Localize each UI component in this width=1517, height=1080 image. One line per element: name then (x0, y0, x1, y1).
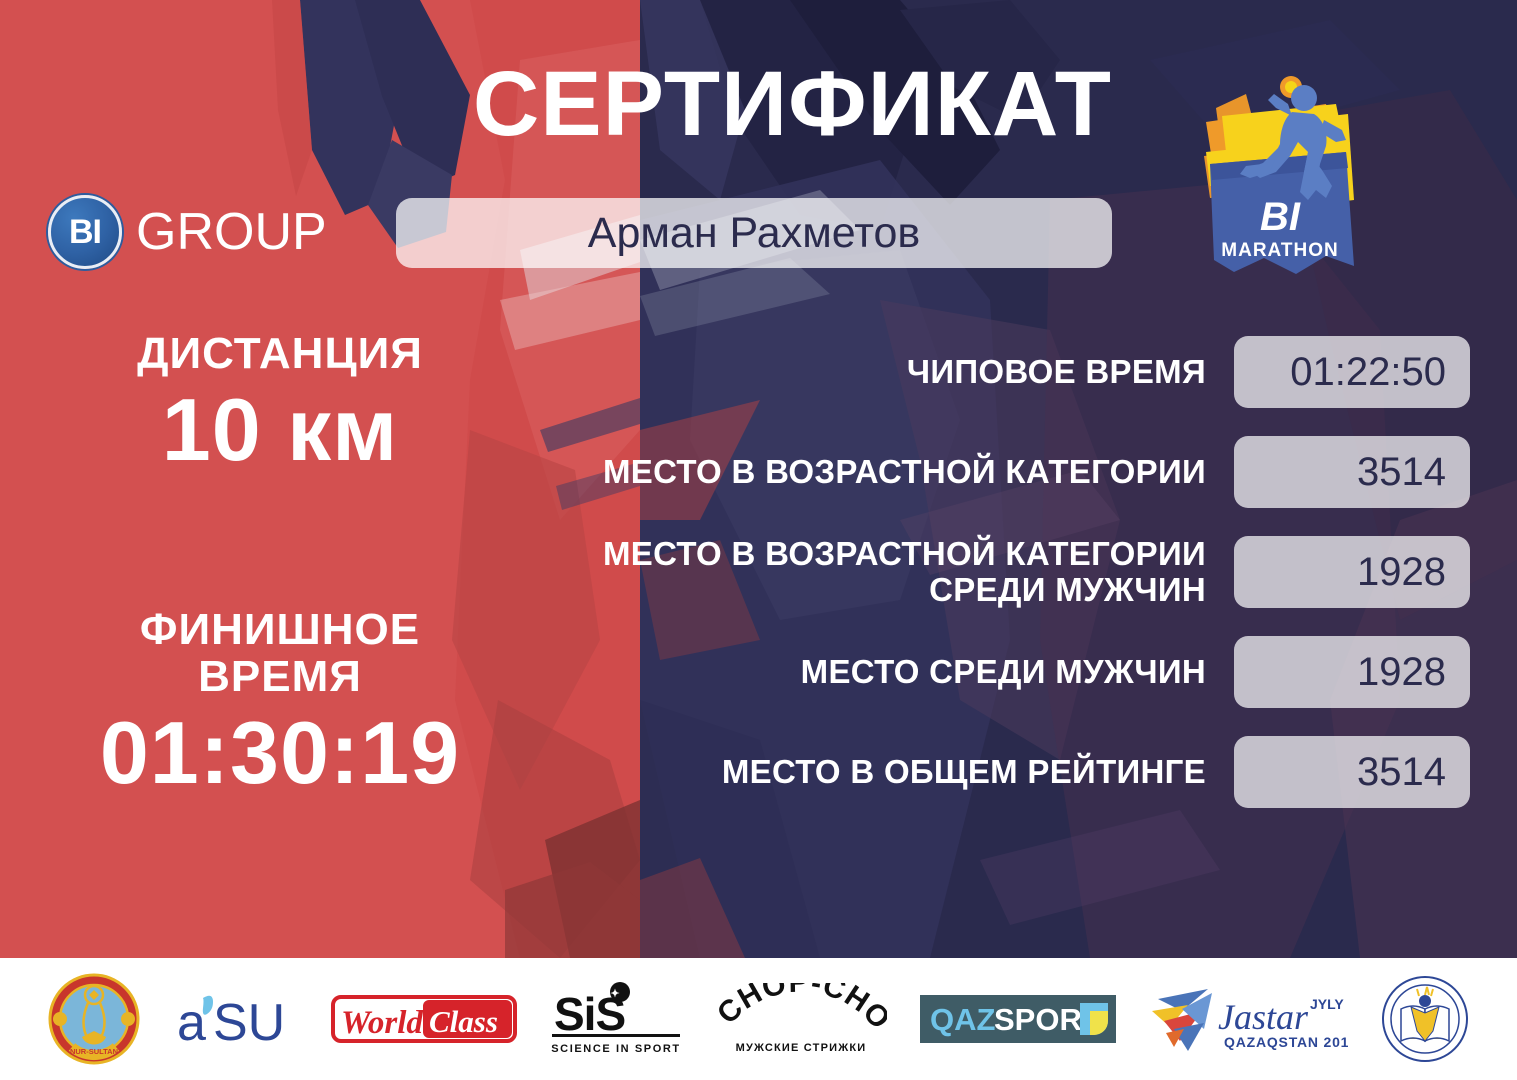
left-stats-column: ДИСТАНЦИЯ 10 км ФИНИШНОЕ ВРЕМЯ 01:30:19 (0, 330, 560, 799)
qazsport-logo-icon: QAZ SPORT (920, 995, 1116, 1043)
page-title: СЕРТИФИКАТ (0, 58, 1160, 150)
jastar-sublabel: QAZAQSTAN 2019 (1224, 1034, 1348, 1050)
bi-marathon-logo-svg: BI MARATHON (1176, 60, 1376, 300)
participant-name-field: Арман Рахметов (396, 198, 1112, 268)
sponsor-nur-sultan: NUR-SULTAN (48, 971, 140, 1067)
bi-badge-icon: BI (48, 195, 122, 269)
sis-label: SiS (554, 988, 625, 1040)
ministry-seal-icon (1381, 975, 1469, 1063)
bi-group-label: GROUP (136, 202, 327, 262)
result-label: МЕСТО В ОБЩЕМ РЕЙТИНГЕ (520, 754, 1234, 790)
result-label: ЧИПОВОЕ ВРЕМЯ (520, 354, 1234, 390)
distance-value: 10 км (0, 384, 560, 476)
bi-marathon-line1: BI (1260, 195, 1301, 239)
sponsor-world-class: World Class (331, 971, 517, 1067)
table-row: ЧИПОВОЕ ВРЕМЯ 01:22:50 (520, 336, 1470, 408)
nur-sultan-emblem-icon: NUR-SULTAN (48, 973, 140, 1065)
asu-label-2: SU (213, 994, 285, 1050)
result-label: МЕСТО СРЕДИ МУЖЧИН (520, 654, 1234, 690)
world-class-logo-icon: World Class (331, 991, 517, 1047)
chop-chop-label: CHOP-CHOP (715, 983, 887, 1036)
jastar-sup-label: JYLY (1310, 996, 1344, 1012)
nur-sultan-label: NUR-SULTAN (70, 1047, 118, 1056)
finish-time-label: ФИНИШНОЕ ВРЕМЯ (0, 606, 560, 701)
asu-label: a (177, 994, 206, 1050)
bi-group-logo: BI GROUP (48, 195, 327, 269)
table-row: МЕСТО В ВОЗРАСТНОЙ КАТЕГОРИИ СРЕДИ МУЖЧИ… (520, 536, 1470, 608)
qazsport-label: QAZ (930, 1002, 996, 1037)
sponsor-chop-chop: CHOP-CHOP МУЖСКИЕ СТРИЖКИ (715, 971, 887, 1067)
table-row: МЕСТО СРЕДИ МУЖЧИН 1928 (520, 636, 1470, 708)
sponsor-asu: a SU (173, 971, 299, 1067)
result-label: МЕСТО В ВОЗРАСТНОЙ КАТЕГОРИИ (520, 454, 1234, 490)
chop-chop-sublabel: МУЖСКИЕ СТРИЖКИ (735, 1042, 866, 1054)
sponsor-qazsport: QAZ SPORT (920, 971, 1116, 1067)
chop-chop-logo-icon: CHOP-CHOP МУЖСКИЕ СТРИЖКИ (715, 983, 887, 1055)
sponsor-ministry-seal (1381, 971, 1469, 1067)
bi-marathon-line2: MARATHON (1221, 240, 1338, 261)
svg-text:CHOP-CHOP: CHOP-CHOP (715, 983, 887, 1036)
result-label: МЕСТО В ВОЗРАСТНОЙ КАТЕГОРИИ СРЕДИ МУЖЧИ… (520, 536, 1234, 607)
sponsor-bar: NUR-SULTAN a SU World Class ✦ (0, 958, 1517, 1080)
left-column-spacer (0, 476, 560, 606)
world-class-label: World (341, 1005, 423, 1041)
result-value: 3514 (1234, 436, 1470, 508)
result-value: 3514 (1234, 736, 1470, 808)
participant-name-text: Арман Рахметов (588, 209, 920, 258)
finish-time-block: ФИНИШНОЕ ВРЕМЯ 01:30:19 (0, 606, 560, 799)
jastar-jyly-logo-icon: Jastar JYLY QAZAQSTAN 2019 (1148, 981, 1348, 1057)
certificate-canvas: СЕРТИФИКАТ BI GROUP Арман Рахметов (0, 0, 1517, 1080)
sponsor-sis: ✦ SiS SCIENCE IN SPORT (550, 971, 682, 1067)
table-row: МЕСТО В ОБЩЕМ РЕЙТИНГЕ 3514 (520, 736, 1470, 808)
world-class-label-2: Class (429, 1004, 498, 1039)
asu-logo-icon: a SU (173, 988, 299, 1050)
sis-sublabel: SCIENCE IN SPORT (551, 1043, 681, 1055)
finish-time-value: 01:30:19 (0, 707, 560, 799)
result-value: 1928 (1234, 636, 1470, 708)
bi-marathon-logo: BI MARATHON (1176, 60, 1376, 300)
result-value: 01:22:50 (1234, 336, 1470, 408)
table-row: МЕСТО В ВОЗРАСТНОЙ КАТЕГОРИИ 3514 (520, 436, 1470, 508)
distance-block: ДИСТАНЦИЯ 10 км (0, 330, 560, 476)
result-rows: ЧИПОВОЕ ВРЕМЯ 01:22:50 МЕСТО В ВОЗРАСТНО… (520, 336, 1470, 836)
sis-logo-icon: ✦ SiS SCIENCE IN SPORT (550, 982, 682, 1056)
result-value: 1928 (1234, 536, 1470, 608)
jastar-label: Jastar (1218, 997, 1309, 1037)
sponsor-jastar-jyly: Jastar JYLY QAZAQSTAN 2019 (1148, 971, 1348, 1067)
distance-label: ДИСТАНЦИЯ (0, 330, 560, 378)
